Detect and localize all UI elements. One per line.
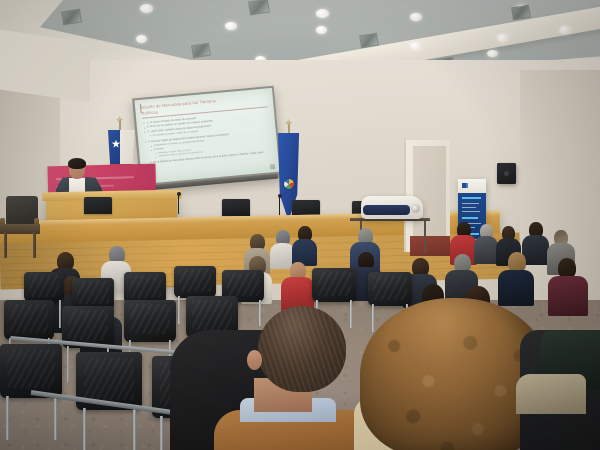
flag-crest-icon bbox=[284, 179, 294, 189]
projector-lens-icon bbox=[411, 204, 420, 213]
man-hair bbox=[258, 306, 346, 392]
downlight-icon bbox=[316, 9, 329, 18]
ceiling-vent-icon bbox=[61, 9, 82, 26]
downlight-icon bbox=[487, 50, 498, 57]
audience-body bbox=[474, 236, 498, 264]
downlight-icon bbox=[410, 42, 422, 50]
chair-leg bbox=[59, 300, 61, 328]
chair-back bbox=[312, 268, 356, 302]
microphone-icon bbox=[279, 197, 280, 215]
slide-bullet-list: 1. Un grupo limitado de fallas de mercad… bbox=[142, 110, 272, 166]
chair-back bbox=[174, 266, 216, 298]
projector bbox=[361, 196, 423, 219]
chair-leg bbox=[178, 296, 180, 324]
chair-leg bbox=[6, 396, 9, 440]
chair[interactable] bbox=[4, 300, 54, 340]
armchair-leg bbox=[33, 232, 36, 258]
chair-back bbox=[4, 300, 54, 340]
chair[interactable] bbox=[174, 266, 216, 298]
wall-corner-strip bbox=[0, 30, 90, 103]
chair-leg bbox=[160, 416, 163, 450]
audience-legs bbox=[516, 374, 586, 414]
head-table-chair bbox=[84, 197, 112, 214]
audience-body bbox=[548, 276, 588, 316]
downlight-icon bbox=[140, 4, 153, 13]
doorway[interactable] bbox=[404, 138, 450, 252]
chair[interactable] bbox=[24, 272, 64, 302]
rollup-highlight-line bbox=[462, 217, 478, 219]
microphone-icon bbox=[178, 195, 179, 214]
chair-leg bbox=[67, 346, 69, 382]
side-armchair bbox=[0, 196, 40, 262]
downlight-icon bbox=[410, 13, 422, 21]
downlight-icon bbox=[225, 22, 237, 30]
slide-title-line2: Políticos bbox=[141, 109, 158, 116]
presentation-slide: Diseño de Mercados para los Tiempos Polí… bbox=[134, 88, 279, 184]
audience-body bbox=[522, 235, 549, 265]
chair-leg bbox=[133, 408, 136, 450]
chair[interactable] bbox=[312, 268, 356, 302]
chair-back bbox=[124, 300, 176, 342]
rollup-text-line bbox=[462, 211, 480, 212]
rollup-logo-icon bbox=[462, 183, 480, 188]
ceiling-vent-icon bbox=[359, 33, 379, 49]
rollup-text-line bbox=[462, 207, 476, 208]
conference-room-photo: Diseño de Mercados para los Tiempos Polí… bbox=[0, 0, 600, 450]
downlight-icon bbox=[136, 35, 147, 43]
slide-title-line1: Diseño de Mercados para los Tiempos bbox=[141, 98, 216, 110]
wall-speaker-icon bbox=[497, 163, 516, 184]
rollup-highlight-line bbox=[462, 197, 481, 199]
man-ear bbox=[247, 350, 262, 370]
chair-leg bbox=[54, 396, 57, 440]
projector-body-accent bbox=[363, 205, 410, 215]
downlight-icon bbox=[559, 26, 571, 34]
downlight-icon bbox=[316, 26, 327, 34]
projector-table-leg bbox=[424, 221, 426, 253]
chair-back bbox=[24, 272, 64, 302]
door-base-panel bbox=[410, 236, 450, 256]
downlight-icon bbox=[497, 34, 509, 42]
chair[interactable] bbox=[124, 300, 176, 342]
chair-leg bbox=[83, 408, 86, 450]
projection-screen: Diseño de Mercados para los Tiempos Polí… bbox=[134, 88, 279, 184]
rollup-banner-header bbox=[458, 179, 486, 193]
slide-logo-icon bbox=[270, 164, 275, 169]
presenter-hair bbox=[68, 158, 86, 169]
ceiling-vent-icon bbox=[191, 43, 211, 59]
rollup-text-line bbox=[462, 203, 479, 204]
head-table-chair bbox=[222, 199, 250, 216]
ceiling-vent-icon bbox=[511, 5, 531, 21]
armchair-leg bbox=[4, 232, 7, 258]
